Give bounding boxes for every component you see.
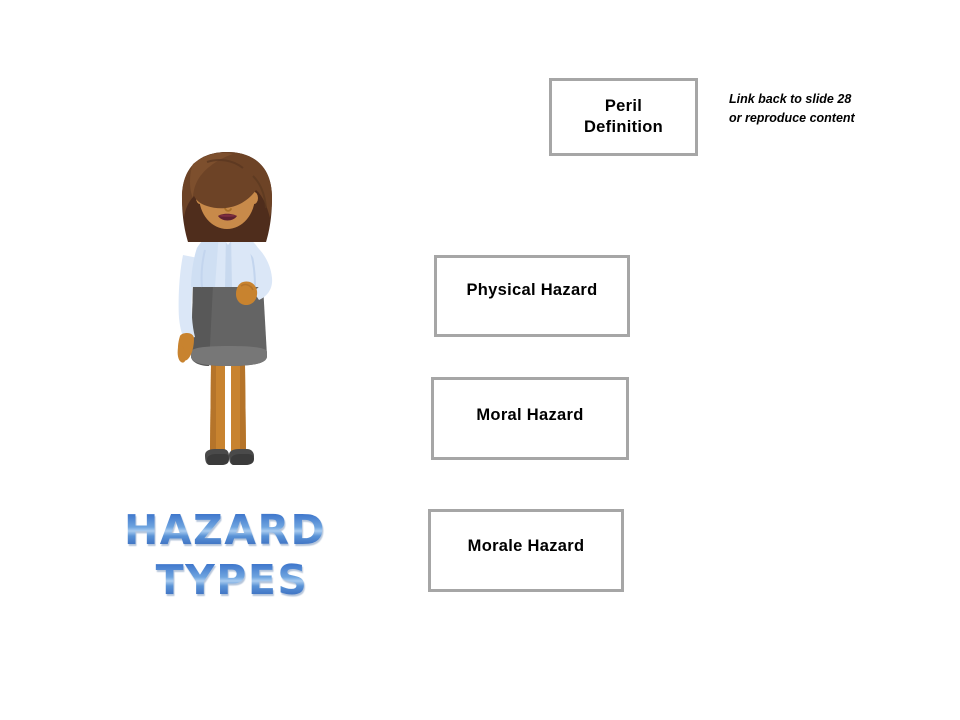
physical-hazard-label: Physical Hazard — [466, 280, 597, 301]
title-line-types: TYPES — [124, 555, 340, 605]
slide-canvas: HAZARD TYPES Peril Definition Link back … — [0, 0, 960, 720]
morale-hazard-box[interactable]: Morale Hazard — [428, 509, 624, 592]
peril-definition-label: Peril Definition — [584, 96, 663, 137]
peril-definition-label-line2: Definition — [584, 118, 663, 136]
peril-definition-label-line1: Peril — [605, 97, 642, 115]
morale-hazard-label: Morale Hazard — [468, 536, 585, 557]
businesswoman-illustration — [155, 150, 300, 495]
page-title: HAZARD TYPES — [110, 505, 340, 605]
title-line-hazard: HAZARD — [110, 505, 340, 555]
moral-hazard-box[interactable]: Moral Hazard — [431, 377, 629, 460]
link-back-note: Link back to slide 28 or reproduce conte… — [729, 90, 861, 129]
peril-definition-box[interactable]: Peril Definition — [549, 78, 698, 156]
businesswoman-svg — [155, 150, 300, 495]
moral-hazard-label: Moral Hazard — [476, 405, 583, 426]
physical-hazard-box[interactable]: Physical Hazard — [434, 255, 630, 337]
